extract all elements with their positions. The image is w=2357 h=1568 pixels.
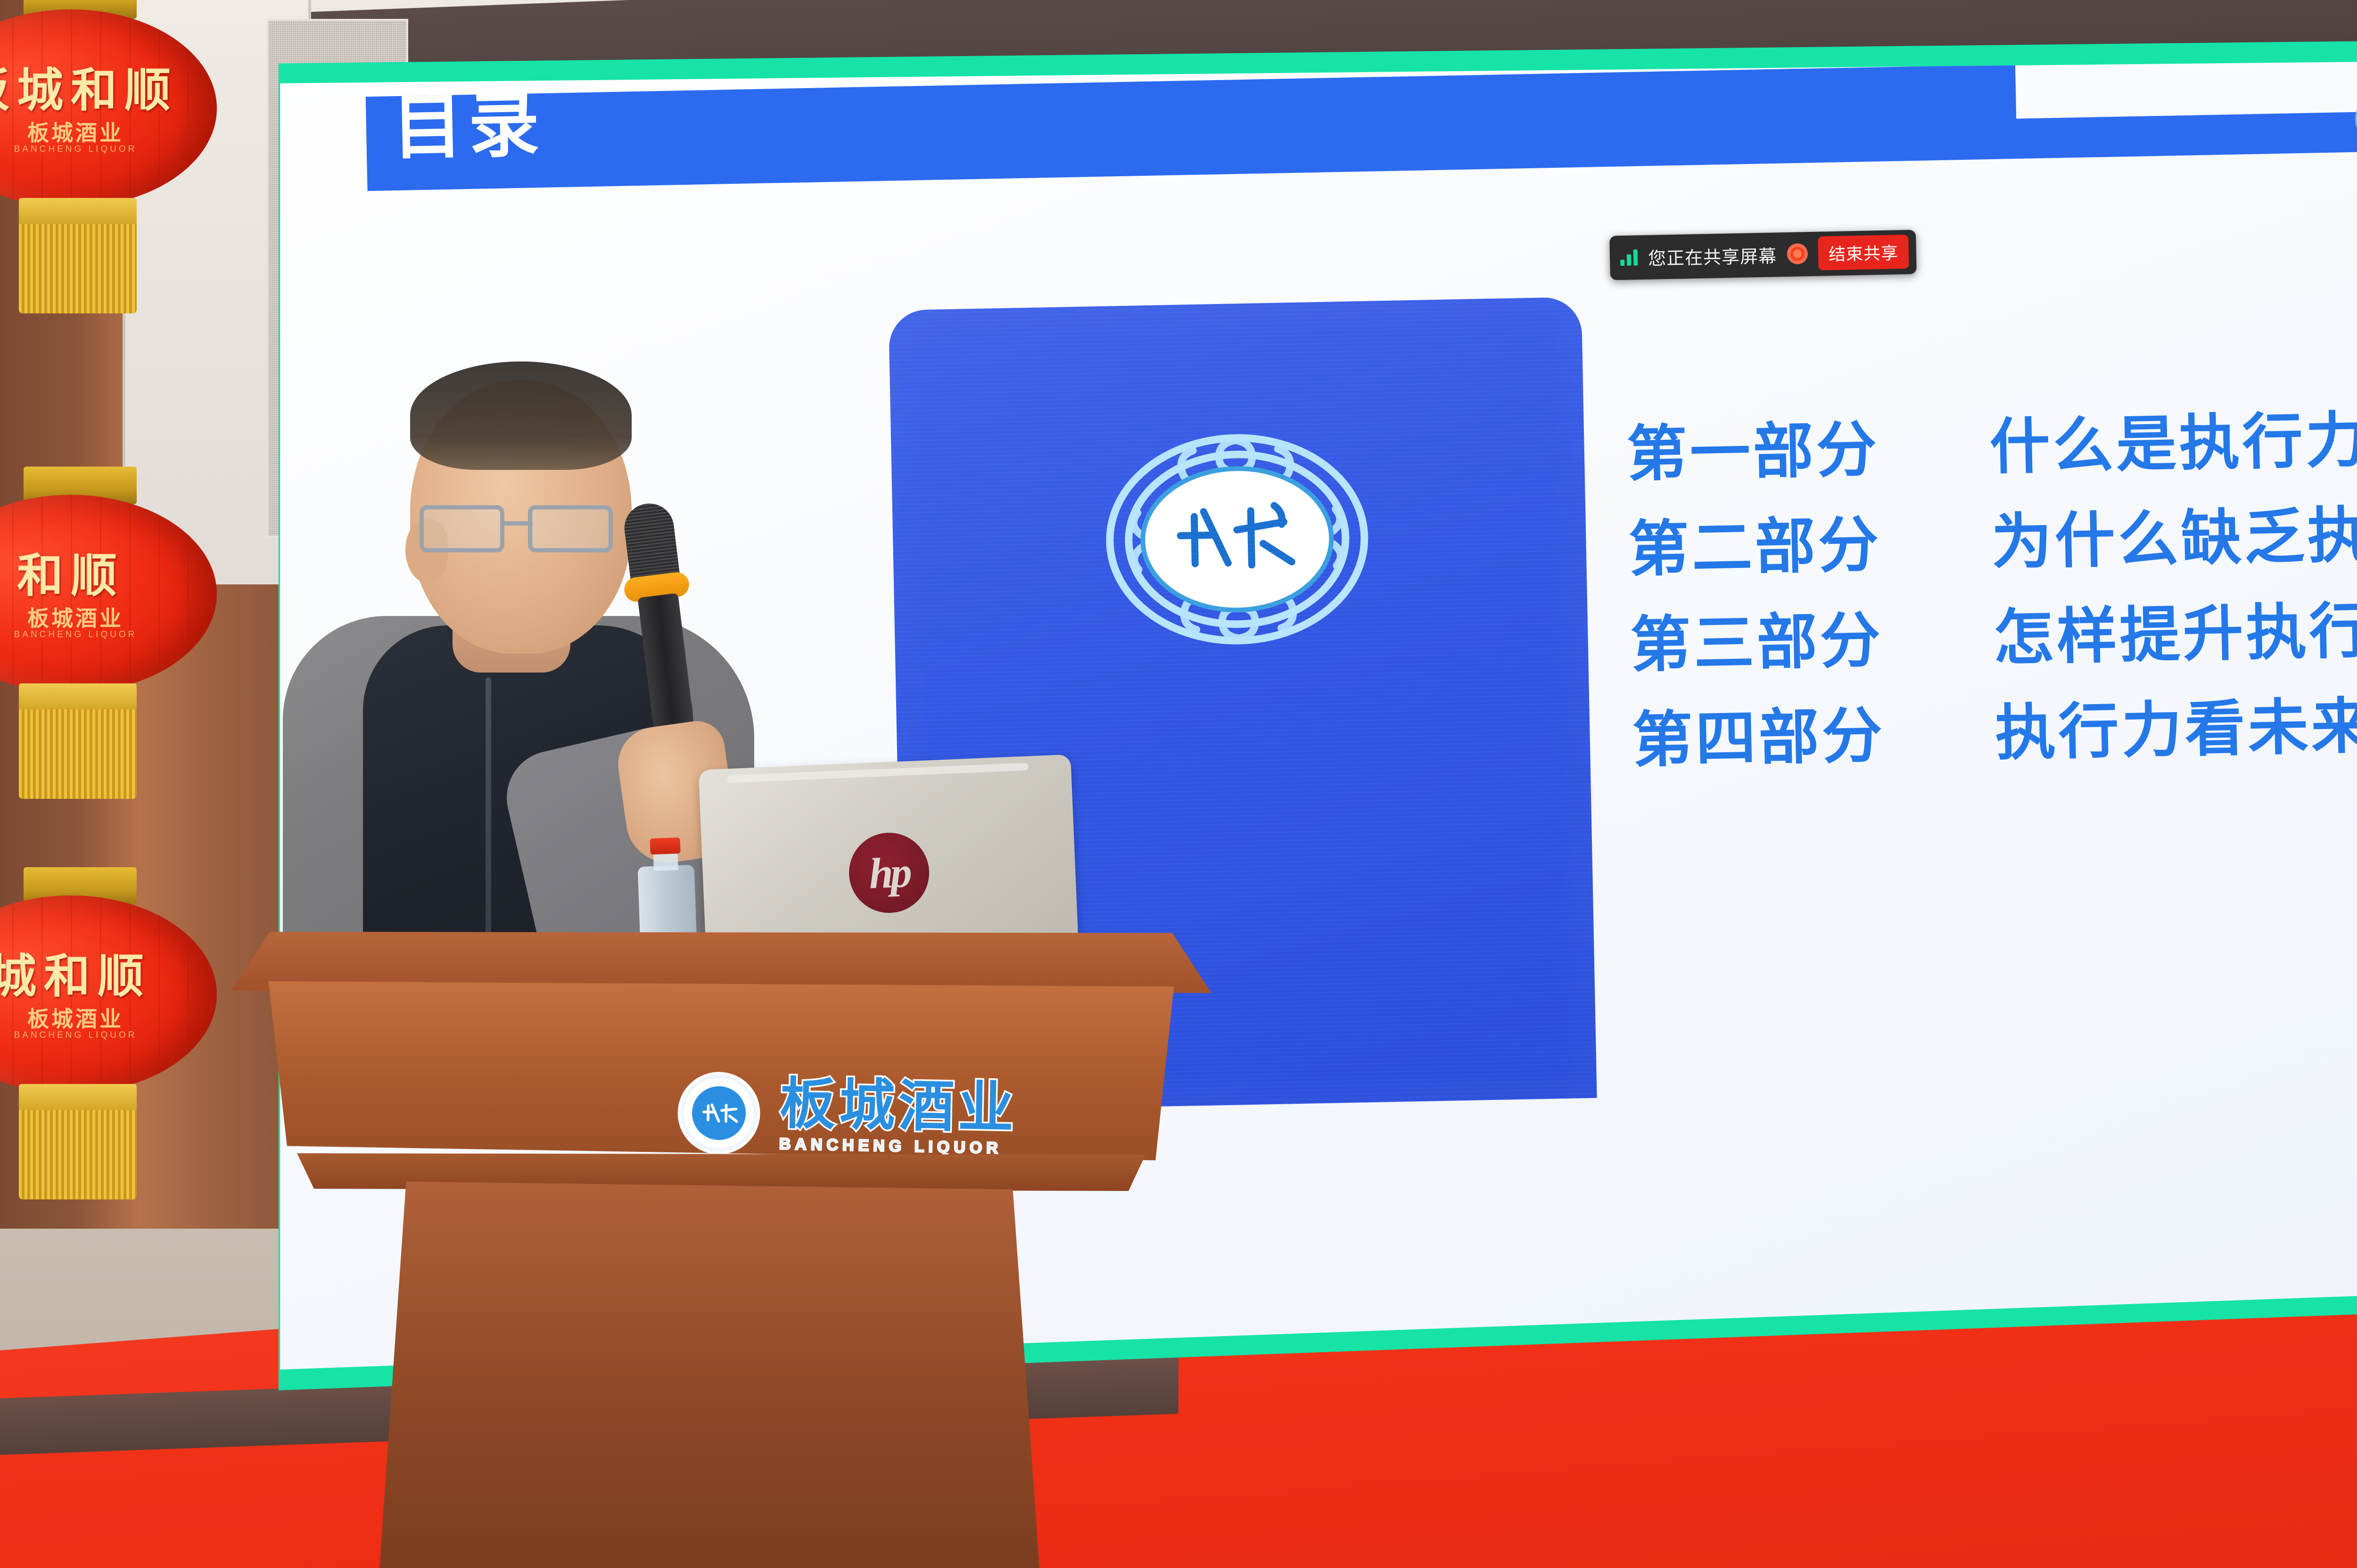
bancheng-seal-icon	[2351, 82, 2357, 155]
slide-contents-list: 第一部分 什么是执行力 第二部分 为什么缺乏执行力 第三部分 怎样提升执行力 第…	[1626, 402, 2357, 805]
hp-logo-text: hp	[868, 847, 910, 898]
slide-brand-lockup: 板城酒业 BANCHENG LIQUOR	[2351, 79, 2357, 155]
contents-item-text: 怎样提升执行力	[1993, 598, 2357, 670]
lantern-text-cn: 城和顺	[0, 939, 198, 1006]
contents-row: 第四部分 执行力看未来发展	[1632, 688, 2357, 772]
share-status-label: 您正在共享屏幕	[1648, 241, 1777, 270]
slide-title: 目录	[391, 90, 545, 164]
lantern: 城和顺 板城酒业 BANCHENG LIQUOR	[0, 895, 217, 1093]
lantern-text-cn: 板城和顺	[0, 53, 198, 120]
lantern-brand-en: BANCHENG LIQUOR	[0, 630, 193, 640]
lantern-brand-cn: 板城酒业	[0, 601, 193, 632]
lantern-brand-en: BANCHENG LIQUOR	[0, 1030, 193, 1041]
lantern-tassel	[19, 224, 137, 313]
podium-brand-cn: 板城酒业	[779, 1075, 1018, 1136]
lantern-text-cn: 和顺	[0, 538, 198, 605]
lantern-tassel	[19, 709, 137, 799]
end-share-button[interactable]: 结束共享	[1818, 235, 1909, 271]
record-dot-icon[interactable]	[1787, 243, 1808, 264]
podium-column	[372, 1182, 1047, 1568]
lantern-tassel	[19, 1110, 137, 1199]
glasses-lens-left	[420, 505, 504, 552]
lantern-tassel-cap	[19, 1084, 137, 1113]
lantern-tassel-cap	[19, 683, 137, 713]
lantern: 和顺 板城酒业 BANCHENG LIQUOR	[0, 495, 217, 693]
microphone-head	[622, 501, 680, 584]
podium-seal-icon	[673, 1067, 765, 1159]
lantern-tassel-cap	[19, 198, 137, 227]
podium-front-panel: 板城酒业 BANCHENG LIQUOR	[259, 981, 1183, 1160]
signal-bars-icon	[1620, 248, 1638, 266]
lantern-body: 和顺 板城酒业 BANCHENG LIQUOR	[0, 495, 217, 693]
bottle-cap	[650, 837, 681, 854]
podium: 板城酒业 BANCHENG LIQUOR	[231, 932, 1211, 1568]
contents-part-label: 第一部分	[1626, 417, 1957, 486]
screenshot-root: 目录	[0, 0, 2357, 1568]
contents-row: 第三部分 怎样提升执行力	[1630, 593, 2357, 677]
lantern: 板城和顺 板城酒业 BANCHENG LIQUOR	[0, 9, 217, 207]
contents-item-text: 什么是执行力	[1989, 409, 2357, 479]
contents-item-text: 为什么缺乏执行力	[1991, 501, 2357, 575]
podium-brand-lockup: 板城酒业 BANCHENG LIQUOR	[673, 1067, 1018, 1164]
lantern-body: 城和顺 板城酒业 BANCHENG LIQUOR	[0, 895, 217, 1093]
screen-share-toolbar[interactable]: 您正在共享屏幕 结束共享	[1609, 230, 1917, 280]
bancheng-seal-large-icon	[1089, 419, 1386, 660]
lantern-brand-cn: 板城酒业	[0, 116, 193, 147]
lantern-brand-en: BANCHENG LIQUOR	[0, 144, 193, 155]
glasses-icon	[420, 505, 632, 557]
contents-part-label: 第三部分	[1630, 607, 1961, 677]
presenter-hair	[410, 361, 632, 470]
contents-row: 第一部分 什么是执行力	[1626, 402, 2357, 486]
contents-row: 第二部分 为什么缺乏执行力	[1628, 498, 2357, 582]
lantern-brand-cn: 板城酒业	[0, 1002, 193, 1033]
contents-part-label: 第二部分	[1628, 512, 1959, 582]
glasses-lens-right	[528, 505, 613, 552]
hp-logo-icon: hp	[848, 831, 931, 915]
contents-item-text: 执行力看未来发展	[1994, 692, 2357, 765]
lantern-body: 板城和顺 板城酒业 BANCHENG LIQUOR	[0, 9, 217, 207]
contents-part-label: 第四部分	[1632, 703, 1963, 773]
